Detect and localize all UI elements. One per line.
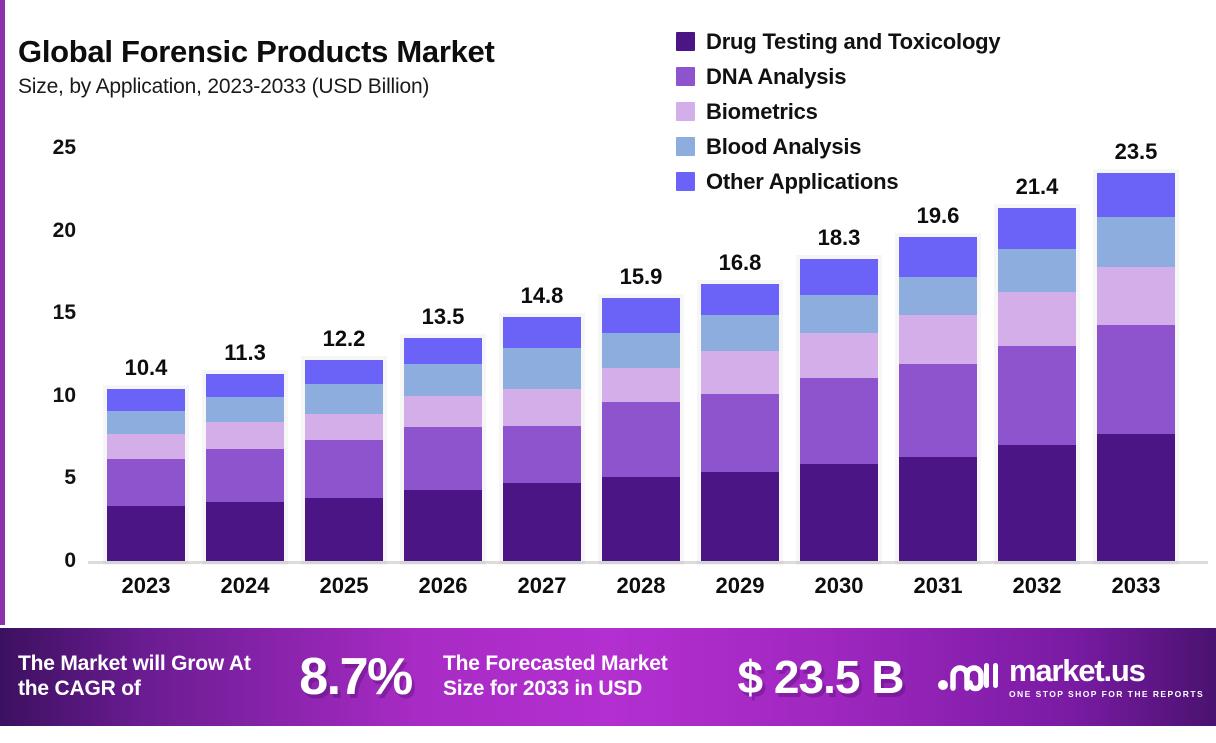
bar-value-label: 12.2 [323, 326, 366, 352]
bar-segment[interactable] [404, 338, 482, 364]
forecast-value: $ 23.5 B [708, 650, 933, 704]
y-axis-tick-label: 10 [53, 384, 76, 408]
bar-segment[interactable] [107, 411, 185, 434]
brand-logo[interactable]: market.us ONE STOP SHOP FOR THE REPORTS [937, 655, 1204, 700]
bar-segment[interactable] [998, 346, 1076, 445]
bar-group[interactable]: 15.92028 [602, 298, 680, 561]
y-axis: 0510152025 [0, 0, 90, 625]
bar-group[interactable]: 18.32030 [800, 259, 878, 561]
bar-group[interactable]: 16.82029 [701, 284, 779, 562]
bar-value-label: 10.4 [125, 355, 168, 381]
bar-segment[interactable] [602, 477, 680, 561]
bar-segment[interactable] [899, 237, 977, 277]
bar-value-label: 13.5 [422, 304, 465, 330]
bar-segment[interactable] [998, 292, 1076, 347]
bar-value-label: 23.5 [1115, 139, 1158, 165]
x-axis-tick-label: 2025 [320, 573, 369, 599]
bar-value-label: 16.8 [719, 250, 762, 276]
x-axis-tick-label: 2026 [419, 573, 468, 599]
bar-segment[interactable] [206, 502, 284, 561]
bar-segment[interactable] [404, 490, 482, 561]
bar-value-label: 11.3 [224, 340, 266, 366]
bar-segment[interactable] [107, 434, 185, 459]
stacked-bar[interactable] [305, 360, 383, 562]
bar-segment[interactable] [602, 298, 680, 333]
cagr-label: The Market will Grow At the CAGR of [18, 652, 268, 702]
bar-segment[interactable] [107, 506, 185, 561]
x-axis-tick-label: 2032 [1013, 573, 1062, 599]
bar-segment[interactable] [206, 374, 284, 397]
stacked-bar[interactable] [1097, 173, 1175, 561]
bar-segment[interactable] [899, 277, 977, 315]
bar-segment[interactable] [701, 472, 779, 561]
logo-wordmark: market.us [1009, 655, 1204, 686]
bar-segment[interactable] [305, 498, 383, 561]
bar-segment[interactable] [800, 464, 878, 561]
bar-segment[interactable] [305, 440, 383, 498]
bar-segment[interactable] [701, 394, 779, 472]
stacked-bar[interactable] [899, 237, 977, 561]
bar-segment[interactable] [800, 295, 878, 333]
bar-value-label: 14.8 [521, 283, 564, 309]
bar-segment[interactable] [899, 364, 977, 457]
bar-segment[interactable] [800, 259, 878, 295]
bar-segment[interactable] [602, 333, 680, 368]
bar-segment[interactable] [899, 457, 977, 561]
bar-segment[interactable] [503, 483, 581, 561]
stacked-bar[interactable] [800, 259, 878, 561]
bar-segment[interactable] [206, 397, 284, 422]
bar-segment[interactable] [602, 402, 680, 476]
bar-segment[interactable] [305, 384, 383, 414]
bar-segment[interactable] [1097, 217, 1175, 267]
bar-segment[interactable] [800, 378, 878, 464]
bar-segment[interactable] [107, 389, 185, 410]
bar-group[interactable]: 10.42023 [107, 389, 185, 561]
y-axis-tick-label: 20 [53, 219, 76, 243]
bar-segment[interactable] [305, 414, 383, 440]
bar-value-label: 21.4 [1016, 174, 1059, 200]
bar-group[interactable]: 19.62031 [899, 237, 977, 561]
bar-group[interactable]: 11.32024 [206, 374, 284, 561]
bar-segment[interactable] [1097, 173, 1175, 218]
bar-segment[interactable] [1097, 434, 1175, 561]
stacked-bar[interactable] [206, 374, 284, 561]
bar-segment[interactable] [404, 396, 482, 427]
bars-container: 10.4202311.3202412.2202513.5202614.82027… [88, 0, 1208, 625]
bar-value-label: 18.3 [818, 225, 861, 251]
stacked-bar[interactable] [998, 208, 1076, 561]
bar-segment[interactable] [1097, 325, 1175, 434]
x-axis-tick-label: 2023 [122, 573, 171, 599]
stacked-bar[interactable] [701, 284, 779, 562]
y-axis-tick-label: 0 [64, 549, 76, 573]
bar-segment[interactable] [800, 333, 878, 378]
bar-segment[interactable] [998, 249, 1076, 292]
market-us-logo-icon [937, 655, 999, 700]
bottom-banner: The Market will Grow At the CAGR of 8.7%… [0, 628, 1216, 726]
stacked-bar[interactable] [107, 389, 185, 561]
y-axis-tick-label: 15 [53, 301, 76, 325]
x-axis-tick-label: 2029 [716, 573, 765, 599]
logo-tagline: ONE STOP SHOP FOR THE REPORTS [1009, 689, 1204, 699]
forecast-label: The Forecasted Market Size for 2033 in U… [443, 652, 708, 702]
bar-segment[interactable] [206, 449, 284, 502]
bar-group[interactable]: 13.52026 [404, 338, 482, 561]
stacked-bar[interactable] [404, 338, 482, 561]
bar-group[interactable]: 14.82027 [503, 317, 581, 561]
x-axis-tick-label: 2024 [221, 573, 270, 599]
bar-segment[interactable] [998, 445, 1076, 561]
bar-segment[interactable] [602, 368, 680, 403]
bar-segment[interactable] [206, 422, 284, 448]
bar-segment[interactable] [503, 426, 581, 484]
bar-segment[interactable] [503, 317, 581, 348]
stacked-bar[interactable] [602, 298, 680, 561]
bar-segment[interactable] [404, 364, 482, 395]
stacked-bar[interactable] [503, 317, 581, 561]
x-axis-tick-label: 2030 [815, 573, 864, 599]
bar-segment[interactable] [503, 389, 581, 425]
x-axis-tick-label: 2031 [914, 573, 963, 599]
bar-segment[interactable] [503, 348, 581, 389]
bar-value-label: 19.6 [917, 203, 960, 229]
bar-group[interactable]: 21.42032 [998, 208, 1076, 561]
bar-segment[interactable] [305, 360, 383, 385]
bar-group[interactable]: 12.22025 [305, 360, 383, 562]
bar-segment[interactable] [1097, 267, 1175, 325]
bar-segment[interactable] [701, 315, 779, 351]
x-axis-tick-label: 2028 [617, 573, 666, 599]
plot-area: 0510152025 10.4202311.3202412.2202513.52… [0, 0, 1216, 625]
bar-value-label: 15.9 [620, 264, 663, 290]
bar-segment[interactable] [107, 459, 185, 507]
bar-segment[interactable] [701, 351, 779, 394]
bar-segment[interactable] [899, 315, 977, 365]
bar-segment[interactable] [701, 284, 779, 315]
y-axis-tick-label: 25 [53, 136, 76, 160]
cagr-value: 8.7% [268, 647, 443, 707]
x-axis-tick-label: 2027 [518, 573, 567, 599]
bar-group[interactable]: 23.52033 [1097, 173, 1175, 561]
bar-segment[interactable] [998, 208, 1076, 249]
x-axis-tick-label: 2033 [1112, 573, 1161, 599]
y-axis-tick-label: 5 [64, 466, 76, 490]
bar-segment[interactable] [404, 427, 482, 490]
chart-page: Global Forensic Products Market Size, by… [0, 0, 1216, 743]
